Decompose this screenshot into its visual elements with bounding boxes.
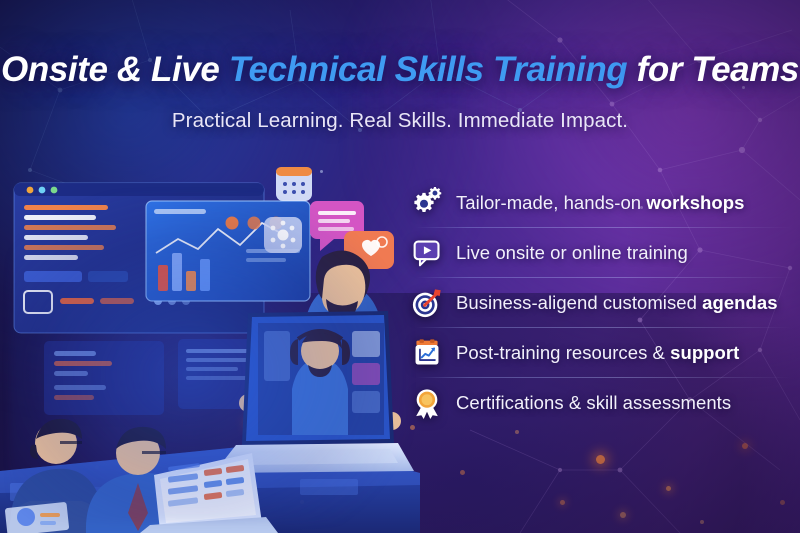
headline-part-1: Onsite & Live xyxy=(1,50,229,89)
list-item[interactable]: Live onsite or online training xyxy=(410,228,800,278)
list-item-label: Tailor-made, hands-on workshops xyxy=(456,192,744,214)
page-subtitle: Practical Learning. Real Skills. Immedia… xyxy=(0,109,800,133)
list-item-label: Post-training resources & support xyxy=(456,342,739,364)
list-item[interactable]: Certifications & skill assessments xyxy=(410,378,800,428)
award-ribbon-icon xyxy=(410,386,444,420)
page-title: Onsite & Live Technical Skills Training … xyxy=(0,52,800,89)
list-item-label: Business-aligend customised agendas xyxy=(456,292,778,314)
training-illustration xyxy=(0,153,420,533)
gears-icon xyxy=(410,186,444,220)
illustration-glow xyxy=(10,193,410,523)
target-dart-icon xyxy=(410,286,444,320)
training-banner: Onsite & Live Technical Skills Training … xyxy=(0,0,800,533)
headline-accent: Technical Skills Training xyxy=(229,50,627,89)
list-item[interactable]: Business-aligend customised agendas xyxy=(410,278,800,328)
list-item-label: Live onsite or online training xyxy=(456,242,688,264)
headline-part-2: for Teams xyxy=(627,50,799,89)
list-item[interactable]: Tailor-made, hands-on workshops xyxy=(410,178,800,228)
video-chat-play-icon xyxy=(410,236,444,270)
list-item[interactable]: Post-training resources & support xyxy=(410,328,800,378)
list-item-label: Certifications & skill assessments xyxy=(456,392,731,414)
title-block: Onsite & Live Technical Skills Training … xyxy=(0,52,800,133)
clipboard-chart-icon xyxy=(410,336,444,370)
feature-list: Tailor-made, hands-on workshops Live ons… xyxy=(410,178,800,428)
